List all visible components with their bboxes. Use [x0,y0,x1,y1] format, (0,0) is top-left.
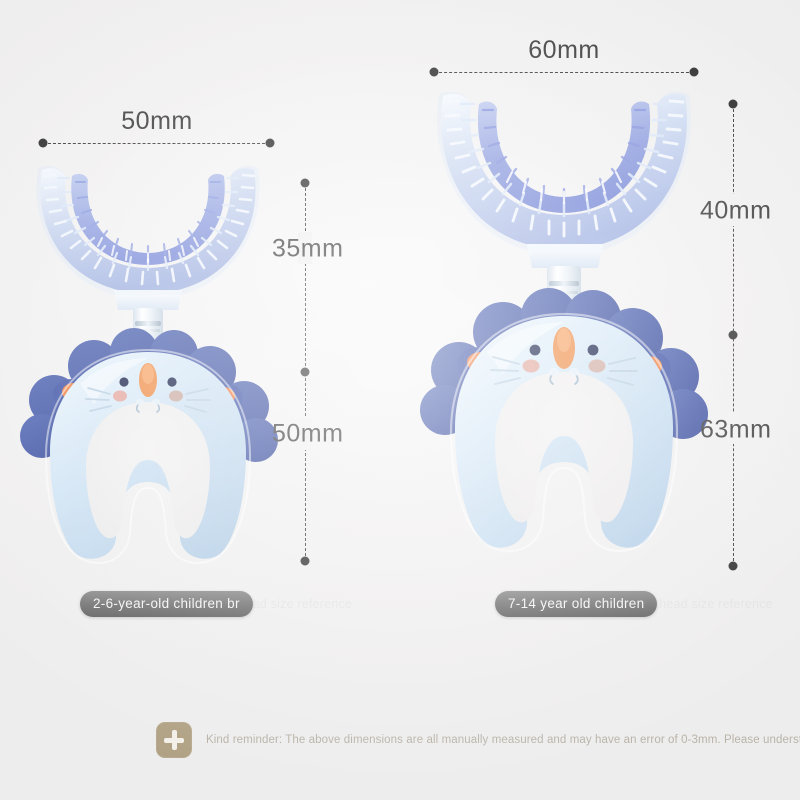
age-badge-large: 7-14 year old children [495,591,657,617]
caption-row-large: 7-14 year old children brush head size r… [495,591,795,617]
handle-large [425,294,703,556]
dimension-endpoint-middle [301,368,310,377]
dimension-endpoint [301,179,310,188]
dimension-line [43,143,270,144]
dimension-handle-height-large-label: 63mm [700,416,771,445]
dimension-endpoint [430,68,439,77]
footer-reminder: Kind reminder: The above dimensions are … [156,722,800,758]
handle-large-graphic [425,294,703,556]
neck-band [135,321,161,326]
handle-small-graphic [24,332,272,564]
age-badge-small: 2-6-year-old children br [80,591,253,617]
plus-icon [156,722,192,758]
dimension-width-small [43,138,270,148]
dimension-width-large [434,67,694,77]
dimension-endpoint [729,100,738,109]
dimension-width-large-label: 60mm [528,36,599,65]
dimension-endpoint [690,68,699,77]
caption-row-small: 2-6-year-old children brush head size re… [80,591,400,617]
plus-glyph [164,730,184,750]
dimension-width-small-label: 50mm [121,107,192,136]
dimension-endpoint-middle [729,331,738,340]
product-dimension-infographic: 50mm 35mm 50mm 2-6-year-old children bru… [0,0,800,800]
dimension-line [434,72,694,73]
neck-band [549,281,579,286]
handle-small [24,332,272,564]
dimension-endpoint [39,139,48,148]
dimension-endpoint [301,557,310,566]
footer-reminder-text: Kind reminder: The above dimensions are … [206,734,800,746]
brush-head-large-graphic [423,86,705,268]
dimension-handle-height-small-label: 50mm [272,420,343,449]
brush-head-small [22,160,274,310]
dimension-endpoint [266,139,275,148]
dimension-heights-large [728,104,738,566]
dimension-head-height-large-label: 40mm [700,197,771,226]
brush-head-large [423,86,705,268]
dimension-head-height-small-label: 35mm [272,235,343,264]
dimension-endpoint [729,562,738,571]
brush-head-small-graphic [22,160,274,310]
